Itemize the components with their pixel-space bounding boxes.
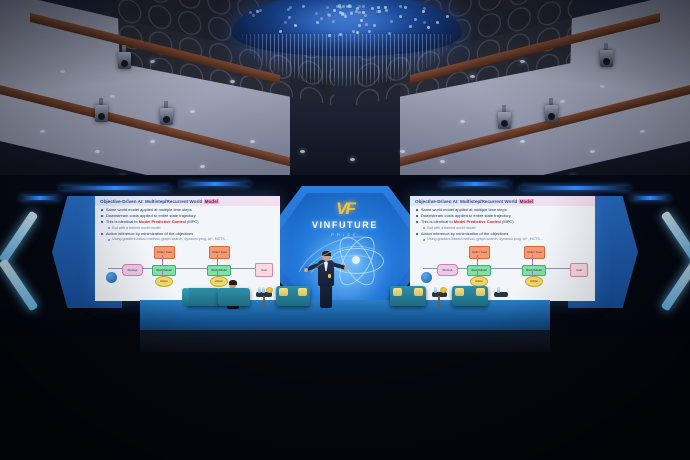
bullet-square-icon bbox=[101, 221, 103, 223]
ceiling-downlight bbox=[560, 100, 565, 103]
bullet-square-icon bbox=[423, 239, 425, 241]
water-bottle bbox=[497, 287, 500, 293]
ceiling-downlight bbox=[470, 75, 475, 78]
bullet-square-icon bbox=[416, 221, 418, 223]
ceiling-downlight bbox=[400, 150, 405, 153]
bullet-square-icon bbox=[423, 227, 425, 229]
chandelier-sparkle bbox=[284, 21, 287, 24]
cushion bbox=[393, 288, 402, 296]
presentation-screen-left: Objective-Driven AI: Multistep/Recurrent… bbox=[95, 196, 280, 301]
diagram-connector bbox=[162, 255, 163, 265]
moving-head-spotlight bbox=[600, 50, 613, 67]
slide-bullet: Using gradient-based method, graph searc… bbox=[416, 237, 589, 241]
moving-head-spotlight bbox=[160, 108, 173, 125]
bullet-text: Same world model applied at multiple tim… bbox=[106, 207, 192, 212]
diagram-connector bbox=[477, 255, 478, 265]
bullet-square-icon bbox=[416, 209, 418, 211]
chandelier-sparkle bbox=[358, 5, 361, 8]
slide-title: Objective-Driven AI: Multistep/Recurrent… bbox=[410, 196, 595, 206]
chandelier-sparkle bbox=[390, 20, 393, 23]
bullet-text-tail: (MPC) bbox=[186, 219, 199, 224]
ceiling-downlight bbox=[440, 160, 445, 163]
slide-bullet: But with a trained world model bbox=[101, 226, 274, 230]
water-bottle bbox=[262, 287, 265, 293]
globe-icon bbox=[106, 272, 117, 283]
chandelier-sparkle bbox=[414, 18, 417, 21]
ceiling-downlight bbox=[590, 150, 595, 153]
brand-subtitle: PRIZE bbox=[302, 232, 388, 237]
bullet-text: This is identical to Model Predictive Co… bbox=[421, 219, 514, 224]
chandelier-sparkle bbox=[326, 6, 329, 9]
diagram-node-cost-end: Cost bbox=[570, 263, 588, 277]
bullet-text: This is identical to Model Predictive Co… bbox=[106, 219, 199, 224]
bullet-text: Same world model applied at multiple tim… bbox=[421, 207, 507, 212]
diagram-connector bbox=[532, 271, 533, 277]
ceiling-downlight bbox=[95, 150, 100, 153]
chandelier-sparkle bbox=[252, 14, 255, 17]
chandelier-sparkle bbox=[339, 33, 342, 36]
bullet-text: Action inference by minimization of the … bbox=[106, 231, 193, 236]
vf-monogram-icon: VF bbox=[302, 199, 388, 219]
diagram-node-percept: Percept bbox=[122, 264, 143, 276]
bullet-text-emphasis: Model Predictive Control bbox=[139, 219, 186, 224]
presentation-screen-right: Objective-Driven AI: Multistep/Recurrent… bbox=[410, 196, 595, 301]
bullet-text: But with a trained world model bbox=[427, 226, 475, 230]
ceiling-downlight bbox=[190, 110, 195, 113]
ceiling-downlight bbox=[200, 165, 205, 168]
chandelier-sparkle bbox=[294, 24, 297, 27]
diagram-node-percept: Percept bbox=[437, 264, 458, 276]
bullet-text-tail: (MPC) bbox=[501, 219, 514, 224]
slide-bullet: Downstream costs applied to entire state… bbox=[416, 213, 589, 218]
ceiling-downlight bbox=[520, 140, 525, 143]
diagram-node-action: Action bbox=[525, 276, 543, 287]
panelist-hair bbox=[229, 280, 237, 285]
bullet-square-icon bbox=[101, 209, 103, 211]
moving-head-spotlight bbox=[118, 52, 131, 69]
slide-bullet: Same world model applied at multiple tim… bbox=[101, 207, 274, 212]
slide-bullet: This is identical to Model Predictive Co… bbox=[416, 219, 589, 224]
diagram-node-world-model: World Model bbox=[522, 265, 546, 276]
chandelier-sparkle bbox=[376, 10, 379, 13]
bullet-square-icon bbox=[101, 233, 103, 235]
led-accent-strip bbox=[180, 182, 250, 186]
diagram-connector bbox=[162, 271, 163, 277]
chandelier-crystal-strands bbox=[242, 34, 452, 86]
water-bottle bbox=[434, 287, 437, 293]
chandelier-sparkle bbox=[399, 15, 402, 18]
chandelier-sparkle bbox=[399, 5, 402, 8]
diagram-connector bbox=[217, 255, 218, 265]
ceiling-downlight bbox=[600, 85, 605, 88]
bullet-text: Using gradient-based method, graph searc… bbox=[427, 237, 542, 241]
slide-bullet: Action inference by minimization of the … bbox=[416, 231, 589, 236]
chandelier-sparkle bbox=[352, 30, 355, 33]
water-bottle bbox=[258, 287, 261, 293]
diagram-node-world-model: World Model bbox=[152, 265, 176, 276]
bullet-square-icon bbox=[108, 227, 110, 229]
chandelier-sparkle bbox=[259, 9, 262, 12]
cushion bbox=[279, 288, 288, 296]
chandelier-sparkle bbox=[409, 25, 412, 28]
bullet-square-icon bbox=[416, 233, 418, 235]
diagram-connector bbox=[477, 271, 478, 277]
ceiling-downlight bbox=[350, 158, 355, 161]
brand-name: VINFUTURE bbox=[302, 220, 388, 230]
slide-bullet: Action inference by minimization of the … bbox=[101, 231, 274, 236]
slide-title-highlight: Model bbox=[204, 199, 219, 204]
ceiling-downlight bbox=[40, 130, 45, 133]
ceiling-downlight bbox=[520, 60, 525, 63]
diagram-node-cost: Critic / Cost bbox=[469, 246, 490, 259]
conference-hall-photo: VF VINFUTURE PRIZE Objective-Driven AI: … bbox=[0, 0, 690, 460]
ceiling-downlight bbox=[150, 60, 155, 63]
diagram-node-cost-end: Cost bbox=[255, 263, 273, 277]
flower-arrangement bbox=[266, 287, 273, 293]
ceiling-downlight bbox=[300, 150, 305, 153]
diagram-node-world-model: World Model bbox=[467, 265, 491, 276]
slide-bullet: Using gradient-based method, graph searc… bbox=[101, 237, 274, 241]
bullet-text-emphasis: Model Predictive Control bbox=[454, 219, 501, 224]
bullet-text: Using gradient-based method, graph searc… bbox=[112, 237, 227, 241]
slide-bullet: This is identical to Model Predictive Co… bbox=[101, 219, 274, 224]
led-accent-strip bbox=[440, 182, 510, 186]
slide-diagram: Percept World Model World Model Critic /… bbox=[100, 246, 275, 284]
ceiling-downlight bbox=[110, 95, 115, 98]
slide-diagram: Percept World Model World Model Critic /… bbox=[415, 246, 590, 284]
diagram-connector bbox=[217, 271, 218, 277]
cushion bbox=[476, 288, 485, 296]
slide-bullet: Downstream costs applied to entire state… bbox=[101, 213, 274, 218]
chandelier-sparkle bbox=[427, 26, 430, 29]
ceiling-downlight bbox=[60, 70, 65, 73]
bullet-text: Action inference by minimization of the … bbox=[421, 231, 508, 236]
moving-head-spotlight bbox=[95, 105, 108, 122]
slide-title-highlight: Model bbox=[519, 199, 534, 204]
chandelier-sparkle bbox=[355, 10, 358, 13]
chandelier-sparkle bbox=[302, 5, 305, 8]
diagram-node-cost: Critic / Cost bbox=[524, 246, 545, 259]
chandelier-sparkle bbox=[341, 13, 344, 16]
bullet-square-icon bbox=[101, 215, 103, 217]
diagram-connector bbox=[532, 255, 533, 265]
audience-area bbox=[0, 300, 690, 460]
globe-icon bbox=[421, 272, 432, 283]
chandelier-sparkle bbox=[316, 21, 319, 24]
bullet-text-lead: This is identical to bbox=[421, 219, 454, 224]
chandelier-sparkle bbox=[362, 5, 365, 8]
led-accent-strip bbox=[60, 186, 170, 190]
flower-arrangement bbox=[440, 287, 447, 293]
cushion bbox=[455, 288, 464, 296]
bullet-text-lead: This is identical to bbox=[106, 219, 139, 224]
diagram-node-action: Action bbox=[155, 276, 173, 287]
chandelier-sparkle bbox=[404, 6, 407, 9]
side-table-far-right bbox=[494, 292, 508, 297]
chandelier-sparkle bbox=[368, 30, 371, 33]
chandelier-sparkle bbox=[388, 32, 391, 35]
bullet-text: But with a trained world model bbox=[112, 226, 160, 230]
bullet-square-icon bbox=[416, 215, 418, 217]
slide-title: Objective-Driven AI: Multistep/Recurrent… bbox=[95, 196, 280, 206]
cushion bbox=[414, 288, 423, 296]
moving-head-spotlight bbox=[545, 105, 558, 122]
diagram-node-world-model: World Model bbox=[207, 265, 231, 276]
slide-title-main: Objective-Driven AI: Multistep/Recurrent… bbox=[415, 199, 519, 204]
diagram-node-cost: Critic / Cost bbox=[209, 246, 230, 259]
led-accent-strip bbox=[520, 186, 630, 190]
slide-bullet: But with a trained world model bbox=[416, 226, 589, 230]
ceiling-downlight bbox=[250, 140, 255, 143]
ceiling-downlight bbox=[640, 130, 645, 133]
bullet-text: Downstream costs applied to entire state… bbox=[421, 213, 511, 218]
chandelier-sparkle bbox=[377, 6, 380, 9]
slide-bullet: Same world model applied at multiple tim… bbox=[416, 207, 589, 212]
moving-head-spotlight bbox=[498, 112, 511, 129]
led-accent-strip bbox=[20, 196, 60, 200]
slide-title-main: Objective-Driven AI: Multistep/Recurrent… bbox=[100, 199, 204, 204]
diagram-node-cost: Critic / Cost bbox=[154, 246, 175, 259]
chandelier-sparkle bbox=[436, 21, 439, 24]
bullet-text: Downstream costs applied to entire state… bbox=[106, 213, 196, 218]
chandelier-sparkle bbox=[342, 5, 345, 8]
led-accent-strip bbox=[630, 196, 670, 200]
crystal-chandelier bbox=[232, 0, 462, 86]
ceiling-downlight bbox=[150, 140, 155, 143]
slide-bullet-list: Same world model applied at multiple tim… bbox=[95, 206, 280, 244]
bullet-square-icon bbox=[108, 239, 110, 241]
ceiling-downlight bbox=[460, 120, 465, 123]
slide-bullet-list: Same world model applied at multiple tim… bbox=[410, 206, 595, 244]
